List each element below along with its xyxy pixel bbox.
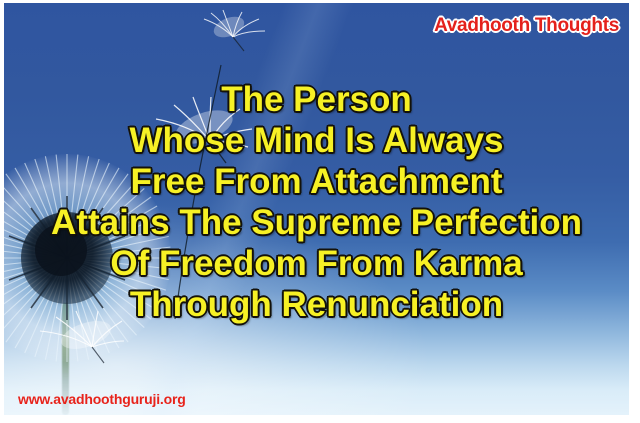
quote-text-block: The Person Whose Mind Is Always Free Fro…: [4, 79, 629, 325]
website-url[interactable]: www.avadhoothguruji.org: [18, 391, 186, 407]
quote-line-2: Whose Mind Is Always: [4, 120, 629, 161]
quote-line-4: Attains The Supreme Perfection: [4, 202, 629, 243]
quote-line-1: The Person: [4, 79, 629, 120]
quote-line-6: Through Renunciation: [4, 284, 629, 325]
quote-poster: Avadhooth Thoughts The Person Whose Mind…: [0, 0, 640, 423]
brand-label: Avadhooth Thoughts: [434, 15, 619, 37]
poster-canvas: Avadhooth Thoughts The Person Whose Mind…: [4, 3, 629, 415]
quote-line-5: Of Freedom From Karma: [4, 243, 629, 284]
quote-line-3: Free From Attachment: [4, 161, 629, 202]
